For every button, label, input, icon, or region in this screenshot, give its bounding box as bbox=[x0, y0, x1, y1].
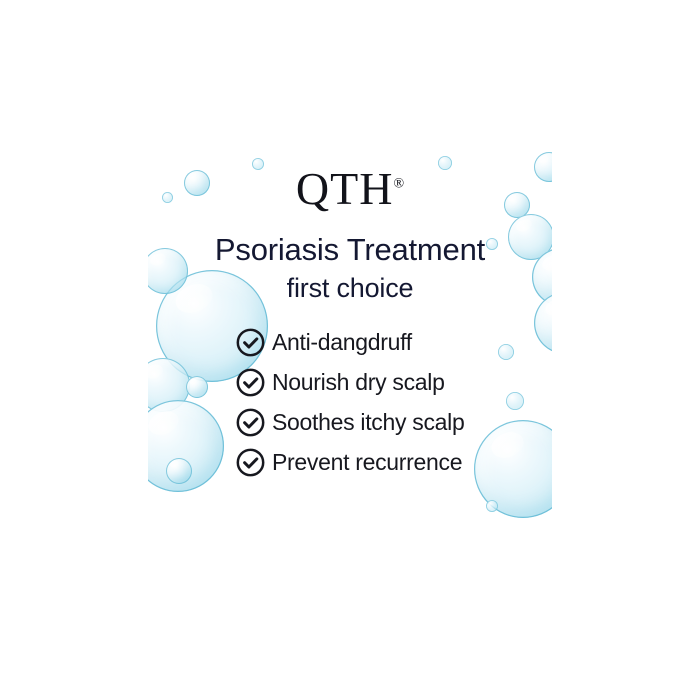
brand-name: QTH bbox=[296, 163, 394, 214]
feature-item: Soothes itchy scalp bbox=[236, 408, 542, 437]
check-circle-icon bbox=[236, 448, 265, 477]
registered-trademark-icon: ® bbox=[393, 177, 404, 192]
subhead-text: first choice bbox=[148, 274, 552, 302]
feature-label: Anti-dangdruff bbox=[272, 330, 412, 355]
product-banner: QTH® Psoriasis Treatment first choice An… bbox=[148, 152, 552, 524]
feature-list: Anti-dangdruffNourish dry scalpSoothes i… bbox=[236, 328, 542, 477]
headline-text: Psoriasis Treatment bbox=[148, 234, 552, 266]
check-circle-icon bbox=[236, 368, 265, 397]
check-circle-icon bbox=[236, 328, 265, 357]
feature-item: Prevent recurrence bbox=[236, 448, 542, 477]
page-canvas: QTH® Psoriasis Treatment first choice An… bbox=[0, 0, 700, 700]
banner-content: QTH® Psoriasis Treatment first choice An… bbox=[148, 152, 552, 524]
feature-label: Nourish dry scalp bbox=[272, 370, 445, 395]
feature-item: Anti-dangdruff bbox=[236, 328, 542, 357]
brand-logo: QTH® bbox=[148, 166, 552, 212]
feature-label: Prevent recurrence bbox=[272, 450, 462, 475]
feature-item: Nourish dry scalp bbox=[236, 368, 542, 397]
feature-label: Soothes itchy scalp bbox=[272, 410, 464, 435]
check-circle-icon bbox=[236, 408, 265, 437]
